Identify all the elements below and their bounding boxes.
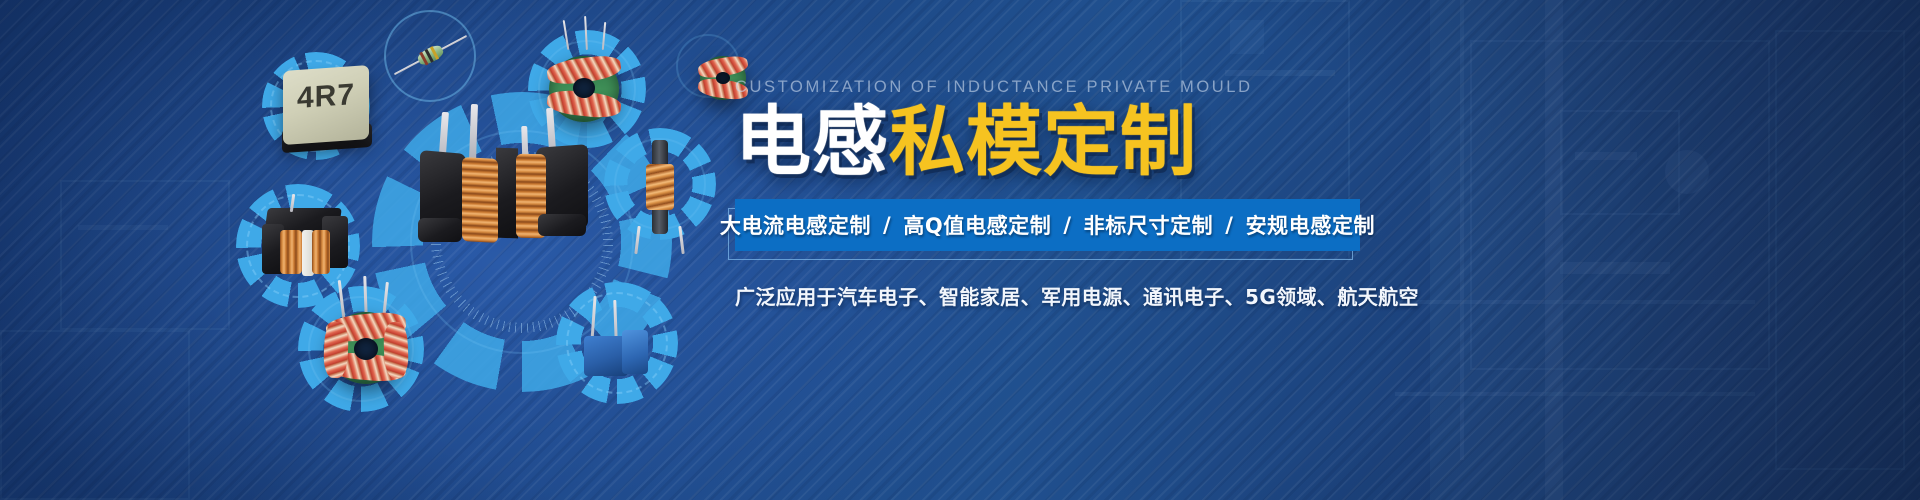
service-item-3[interactable]: 安规电感定制	[1246, 210, 1376, 240]
inductance-custom-mould-banner: 4R7	[0, 0, 1920, 500]
blue-cap-body-side	[622, 330, 648, 374]
choke-large-foot-right	[538, 214, 586, 236]
smd-marking-label: 4R7	[283, 77, 369, 117]
rod-winding	[646, 164, 674, 210]
headline-gold-part: 私模定制	[889, 97, 1197, 186]
headline-white-part: 电感	[735, 97, 889, 186]
service-item-2[interactable]: 非标尺寸定制	[1084, 210, 1214, 240]
banner-text-block: CUSTOMIZATION OF INDUCTANCE PRIVATE MOUL…	[735, 78, 1855, 310]
product-ee-core-common-mode-choke-large	[418, 110, 590, 270]
choke-large-foot-left	[418, 218, 462, 242]
service-separator-1: /	[1051, 213, 1083, 237]
choke-large-pin-2	[469, 104, 478, 162]
product-common-mode-choke-small	[258, 200, 354, 288]
product-blue-radial-inductor	[578, 296, 662, 396]
choke-small-winding-1	[280, 230, 302, 274]
service-separator-0: /	[871, 213, 903, 237]
green-toroid-winding-right	[383, 322, 409, 379]
axial-lead-left	[394, 59, 421, 75]
axial-lead-right	[440, 35, 467, 51]
product-rod-core-inductor	[630, 140, 694, 248]
service-separator-2: /	[1213, 213, 1245, 237]
service-item-1[interactable]: 高Q值电感定制	[903, 210, 1051, 240]
eyebrow-english-tagline: CUSTOMIZATION OF INDUCTANCE PRIVATE MOUL…	[735, 78, 1855, 97]
green-toroid-winding-left	[323, 322, 349, 379]
choke-small-winding-2	[312, 230, 330, 274]
green-toroid-center-hole	[354, 338, 378, 360]
product-smd-power-inductor: 4R7	[283, 68, 373, 156]
page-title: 电感私模定制	[735, 103, 1855, 181]
product-green-toroid-inductor	[318, 296, 418, 394]
toroid-center-hole	[573, 78, 595, 98]
choke-large-winding-left	[462, 157, 498, 243]
choke-large-center-divider	[496, 148, 518, 239]
services-bar[interactable]: 大电流电感定制 / 高Q值电感定制 / 非标尺寸定制 / 安规电感定制	[735, 199, 1360, 251]
applications-line: 广泛应用于汽车电子、智能家居、军用电源、通讯电子、5G领域、航天航空	[735, 281, 1855, 310]
services-bar-wrapper: 大电流电感定制 / 高Q值电感定制 / 非标尺寸定制 / 安规电感定制	[735, 199, 1360, 251]
axial-body	[416, 43, 446, 68]
service-item-0[interactable]: 大电流电感定制	[720, 210, 871, 240]
toroid-edge-hole	[716, 72, 730, 84]
